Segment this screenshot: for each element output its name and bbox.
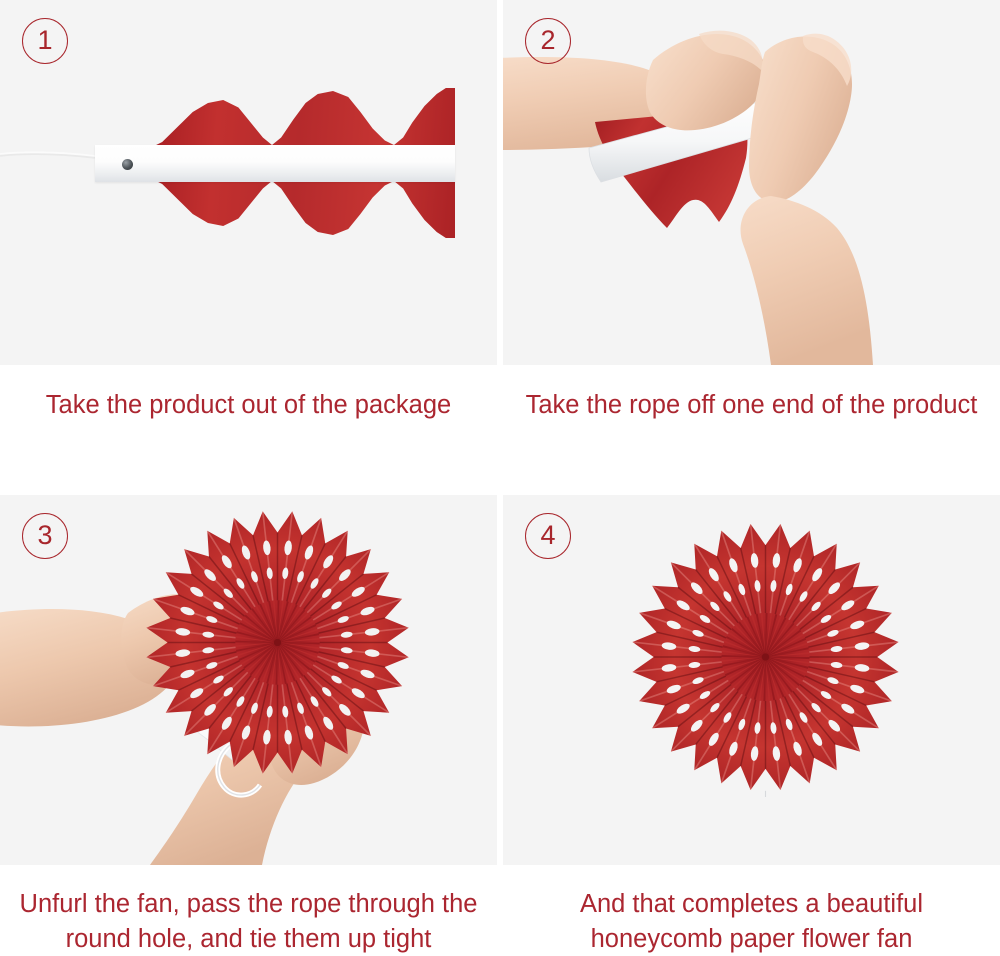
step-cell-2: 2 bbox=[503, 0, 1000, 495]
step-caption-3: Unfurl the fan, pass the rope through th… bbox=[0, 887, 497, 956]
white-cardboard-strip bbox=[95, 145, 455, 182]
step-caption-4: And that completes a beautiful honeycomb… bbox=[503, 887, 1000, 956]
fan-rosette-3 bbox=[140, 505, 415, 780]
grommet-eyelet-icon bbox=[122, 159, 133, 170]
folded-product bbox=[95, 88, 455, 238]
photo-panel-2: 2 bbox=[503, 0, 1000, 365]
step-caption-4-line1: And that completes a beautiful bbox=[580, 890, 923, 918]
step-number-badge-4: 4 bbox=[525, 513, 571, 559]
photo-panel-3: 3 bbox=[0, 495, 497, 865]
step-cell-3: 3 bbox=[0, 495, 497, 956]
step-number-badge-1: 1 bbox=[22, 18, 68, 64]
fan-hub bbox=[274, 639, 281, 646]
step-caption-2: Take the rope off one end of the product bbox=[503, 388, 1000, 423]
scene-hands-removing-rope bbox=[503, 0, 1000, 365]
fan-rosette-4 bbox=[628, 517, 903, 797]
step-caption-3-line2: round hole, and tie them up tight bbox=[66, 925, 432, 953]
right-forearm bbox=[741, 196, 873, 365]
step-caption-4-line2: honeycomb paper flower fan bbox=[591, 925, 913, 953]
step-caption-3-line1: Unfurl the fan, pass the rope through th… bbox=[20, 890, 478, 918]
fan-hub bbox=[762, 653, 769, 660]
step-caption-1: Take the product out of the package bbox=[0, 388, 497, 423]
instruction-sheet: 1 Take the product out of the package 2 bbox=[0, 0, 1000, 956]
photo-panel-1: 1 bbox=[0, 0, 497, 365]
step-number-badge-2: 2 bbox=[525, 18, 571, 64]
finished-fan-4 bbox=[628, 517, 903, 797]
opened-fan-3 bbox=[140, 505, 415, 780]
step-number-badge-3: 3 bbox=[22, 513, 68, 559]
step-cell-1: 1 Take the product out of the package bbox=[0, 0, 497, 495]
step-cell-4: 4 And tha bbox=[503, 495, 1000, 956]
photo-panel-4: 4 bbox=[503, 495, 1000, 865]
